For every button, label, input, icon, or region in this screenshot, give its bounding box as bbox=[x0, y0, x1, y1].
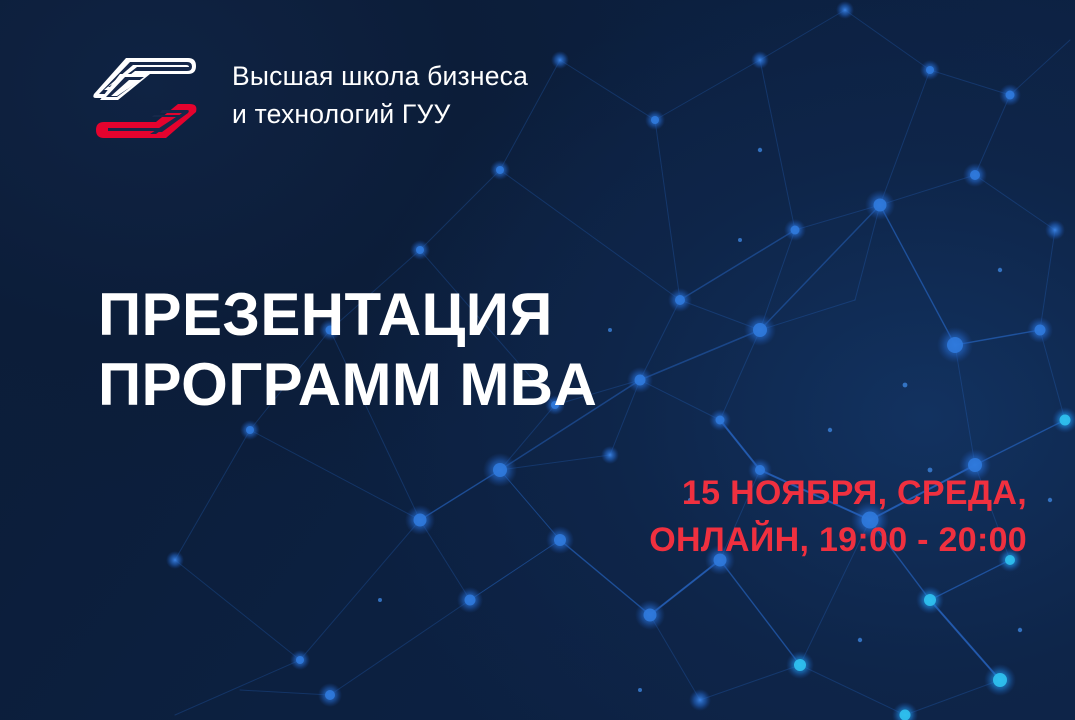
event-announcement-poster: Высшая школа бизнеса и технологий ГУУ ПР… bbox=[0, 0, 1075, 720]
event-date-line: 15 НОЯБРЯ, СРЕДА, bbox=[649, 470, 1027, 517]
page-title-line-2: ПРОГРАММ MBA bbox=[98, 350, 597, 420]
event-time-line: ОНЛАЙН, 19:00 - 20:00 bbox=[649, 517, 1027, 564]
brand-lockup: Высшая школа бизнеса и технологий ГУУ bbox=[92, 48, 528, 144]
book-logo-icon bbox=[92, 52, 200, 144]
brand-name-line-2: и технологий ГУУ bbox=[232, 96, 528, 134]
event-datetime: 15 НОЯБРЯ, СРЕДА, ОНЛАЙН, 19:00 - 20:00 bbox=[649, 470, 1027, 564]
brand-name: Высшая школа бизнеса и технологий ГУУ bbox=[232, 58, 528, 133]
brand-name-line-1: Высшая школа бизнеса bbox=[232, 58, 528, 96]
page-title: ПРЕЗЕНТАЦИЯ ПРОГРАММ MBA bbox=[98, 280, 597, 419]
page-title-line-1: ПРЕЗЕНТАЦИЯ bbox=[98, 280, 597, 350]
